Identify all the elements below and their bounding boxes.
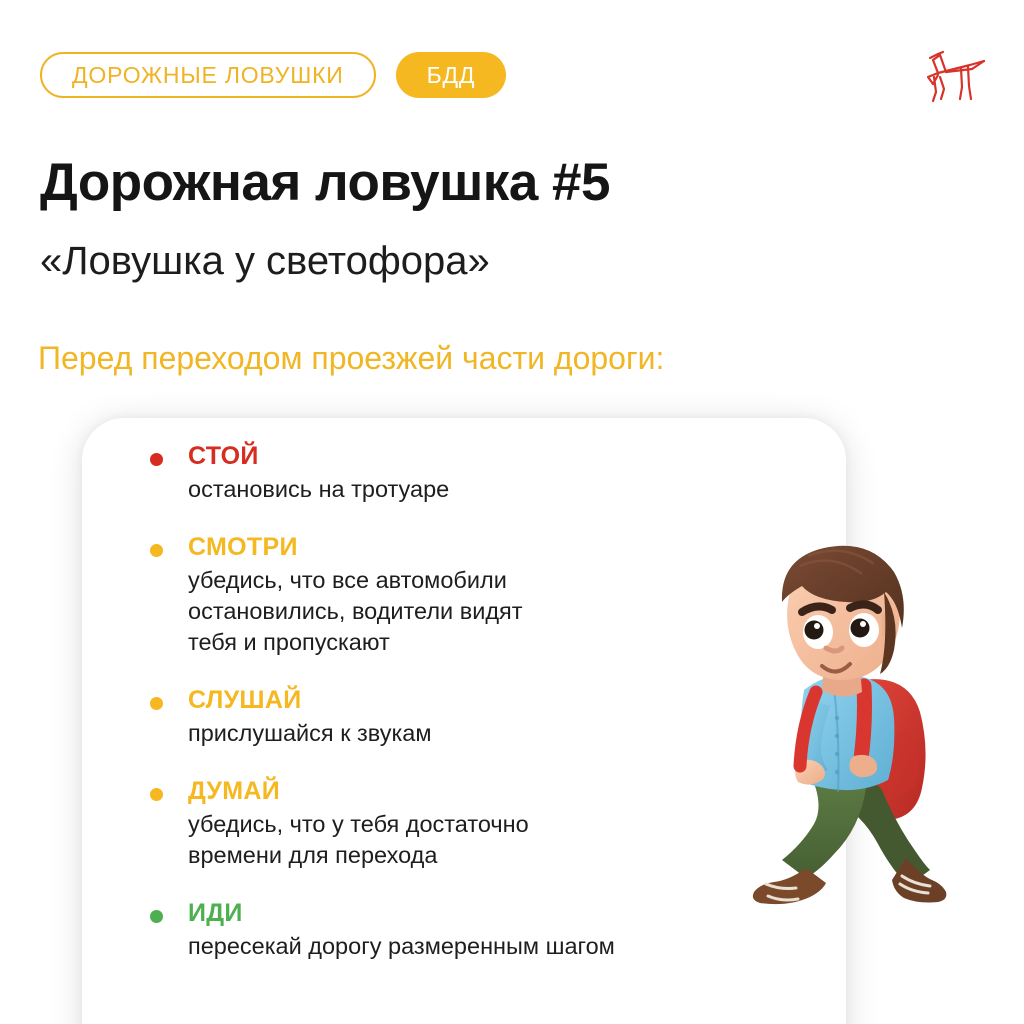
category-badge-pill[interactable]: БДД (396, 52, 507, 98)
page-title: Дорожная ловушка #5 (40, 152, 610, 214)
list-item: СЛУШАЙ прислушайся к звукам (150, 684, 750, 749)
category-badge-label: БДД (427, 62, 476, 89)
list-item-title: ИДИ (188, 897, 750, 929)
list-item-title: СТОЙ (188, 440, 750, 472)
topic-tag-label: ДОРОЖНЫЕ ЛОВУШКИ (72, 62, 344, 89)
page-root: ДОРОЖНЫЕ ЛОВУШКИ БДД (0, 0, 1024, 1024)
bullet-dot-icon (150, 910, 163, 923)
bullet-dot-icon (150, 788, 163, 801)
list-item-description: пересекай дорогу размеренным шагом (188, 931, 750, 962)
bullet-dot-icon (150, 453, 163, 466)
list-item-title: СЛУШАЙ (188, 684, 750, 716)
list-item: ИДИ пересекай дорогу размеренным шагом (150, 897, 750, 962)
lead-text: Перед переходом проезжей части дороги: (38, 337, 664, 379)
red-horse-line-art-icon (916, 41, 988, 107)
list-item: СМОТРИ убедись, что все автомобили остан… (150, 531, 750, 658)
list-item-title: ДУМАЙ (188, 775, 750, 807)
walking-schoolboy-with-backpack-illustration (716, 540, 976, 940)
topic-tag-pill[interactable]: ДОРОЖНЫЕ ЛОВУШКИ (40, 52, 376, 98)
bullet-dot-icon (150, 544, 163, 557)
list-item: СТОЙ остановись на тротуаре (150, 440, 750, 505)
list-item-description: убедись, что у тебя достаточно времени д… (188, 809, 750, 871)
bullet-dot-icon (150, 697, 163, 710)
list-item-description: прислушайся к звукам (188, 718, 750, 749)
page-subtitle: «Ловушка у светофора» (40, 235, 490, 287)
list-item-title: СМОТРИ (188, 531, 750, 563)
list-item-description: убедись, что все автомобили остановились… (188, 565, 750, 658)
header: ДОРОЖНЫЕ ЛОВУШКИ БДД (40, 49, 988, 101)
list-item: ДУМАЙ убедись, что у тебя достаточно вре… (150, 775, 750, 871)
list-item-description: остановись на тротуаре (188, 474, 750, 505)
rules-list: СТОЙ остановись на тротуаре СМОТРИ убеди… (150, 440, 750, 962)
